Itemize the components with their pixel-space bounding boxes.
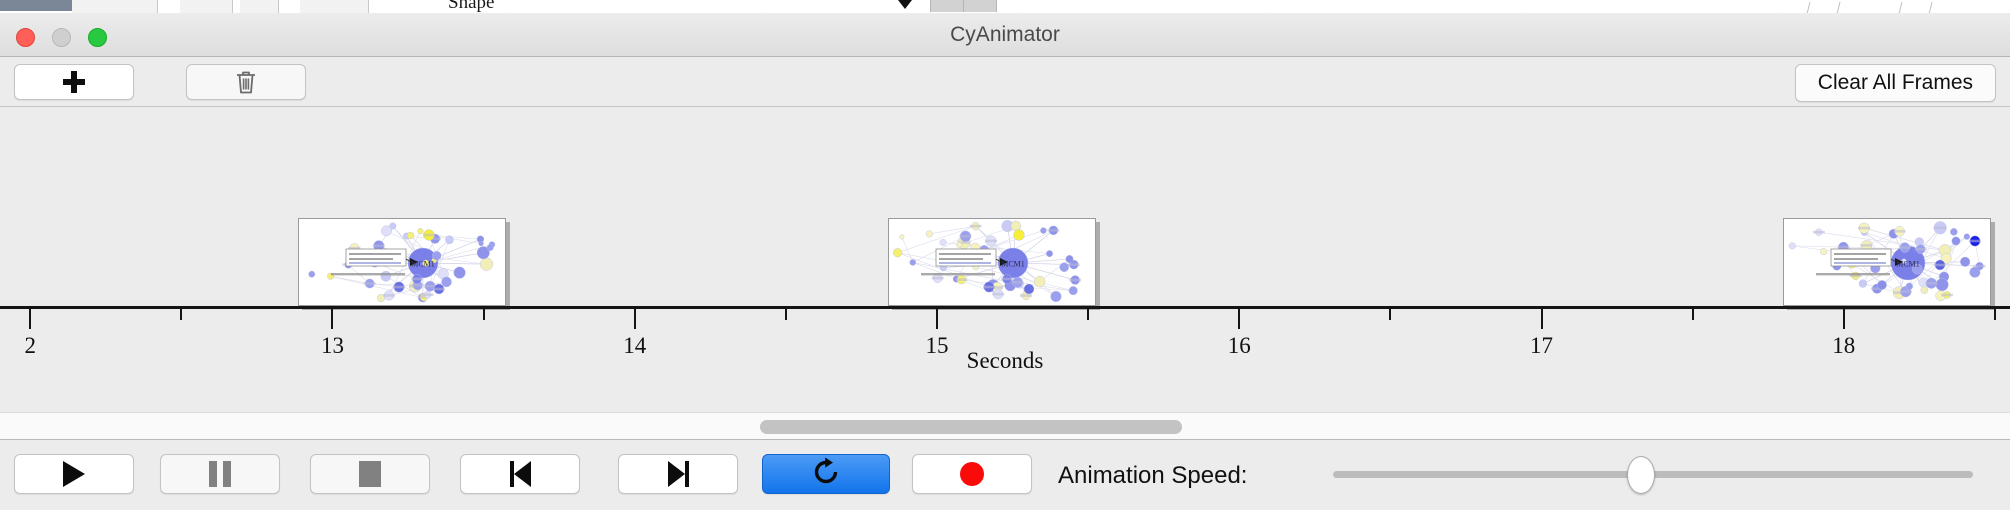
stop-icon bbox=[359, 461, 381, 487]
axis-tick-major bbox=[29, 309, 31, 329]
background-caret-icon bbox=[898, 0, 912, 9]
background-tab bbox=[72, 0, 158, 13]
skip-to-start-icon bbox=[510, 461, 531, 487]
axis-tick-minor bbox=[180, 309, 182, 320]
playback-controls: Animation Speed: bbox=[0, 441, 2010, 510]
background-block bbox=[930, 0, 964, 12]
skip-to-end-button[interactable] bbox=[618, 454, 738, 494]
axis-tick-minor bbox=[1087, 309, 1089, 320]
background-window-label: Shape bbox=[448, 0, 494, 13]
pause-icon bbox=[209, 461, 231, 487]
background-tab bbox=[300, 0, 369, 13]
record-icon bbox=[960, 462, 984, 486]
background-divider bbox=[1899, 2, 1903, 13]
pause-button[interactable] bbox=[160, 454, 280, 494]
axis-tick-major bbox=[1541, 309, 1543, 329]
play-icon bbox=[63, 461, 85, 487]
frame-thumbnail[interactable]: MCM1 bbox=[298, 218, 506, 306]
axis-tick-minor bbox=[483, 309, 485, 320]
svg-text:MCM1: MCM1 bbox=[1001, 259, 1025, 268]
background-window-titlebar bbox=[0, 0, 72, 11]
clear-all-frames-button[interactable]: Clear All Frames bbox=[1795, 64, 1996, 102]
axis-tick-major bbox=[634, 309, 636, 329]
scrollbar-thumb[interactable] bbox=[760, 420, 1182, 434]
skip-to-start-button[interactable] bbox=[460, 454, 580, 494]
axis-tick-major bbox=[1843, 309, 1845, 329]
axis-title: Seconds bbox=[0, 348, 2010, 374]
svg-text:MCM1: MCM1 bbox=[1896, 259, 1920, 268]
record-button[interactable] bbox=[912, 454, 1032, 494]
timeline-axis bbox=[0, 306, 2010, 309]
window-title: CyAnimator bbox=[0, 13, 2010, 57]
axis-tick-minor bbox=[1994, 309, 1996, 320]
background-tab bbox=[180, 0, 233, 13]
play-button[interactable] bbox=[14, 454, 134, 494]
trash-icon bbox=[234, 69, 258, 95]
animation-speed-label: Animation Speed: bbox=[1058, 441, 1247, 510]
background-divider bbox=[1807, 2, 1811, 13]
axis-tick-major bbox=[936, 309, 938, 329]
background-divider bbox=[1929, 2, 1933, 13]
animation-speed-slider[interactable] bbox=[1333, 454, 1973, 494]
stop-button[interactable] bbox=[310, 454, 430, 494]
add-frame-button[interactable] bbox=[14, 64, 134, 100]
axis-tick-major bbox=[331, 309, 333, 329]
delete-frame-button[interactable] bbox=[186, 64, 306, 100]
background-window-strip: Shape bbox=[0, 0, 2010, 13]
axis-tick-minor bbox=[785, 309, 787, 320]
frame-thumbnail[interactable]: MCM1 bbox=[1783, 218, 1991, 306]
axis-tick-major bbox=[1238, 309, 1240, 329]
frame-thumbnail[interactable]: MCM1 bbox=[888, 218, 1096, 306]
axis-tick-minor bbox=[1389, 309, 1391, 320]
loop-toggle-button[interactable] bbox=[762, 454, 890, 494]
cyanimator-window: Shape CyAnimator Clear All Frames bbox=[0, 0, 2010, 510]
toolbar: Clear All Frames bbox=[0, 57, 2010, 107]
timeline-scrollbar[interactable] bbox=[0, 412, 2010, 440]
axis-tick-minor bbox=[1692, 309, 1694, 320]
skip-to-end-icon bbox=[668, 461, 689, 487]
background-tab bbox=[240, 0, 279, 13]
svg-text:MCM1: MCM1 bbox=[411, 259, 435, 268]
loop-icon bbox=[811, 457, 841, 492]
timeline-panel[interactable]: MCM1 MCM1 MCM1 2131415161718 Seconds bbox=[0, 108, 2010, 412]
title-bar: CyAnimator bbox=[0, 13, 2010, 57]
plus-icon bbox=[63, 71, 85, 93]
background-divider bbox=[1837, 2, 1841, 13]
slider-thumb[interactable] bbox=[1627, 456, 1655, 494]
background-block bbox=[963, 0, 997, 12]
